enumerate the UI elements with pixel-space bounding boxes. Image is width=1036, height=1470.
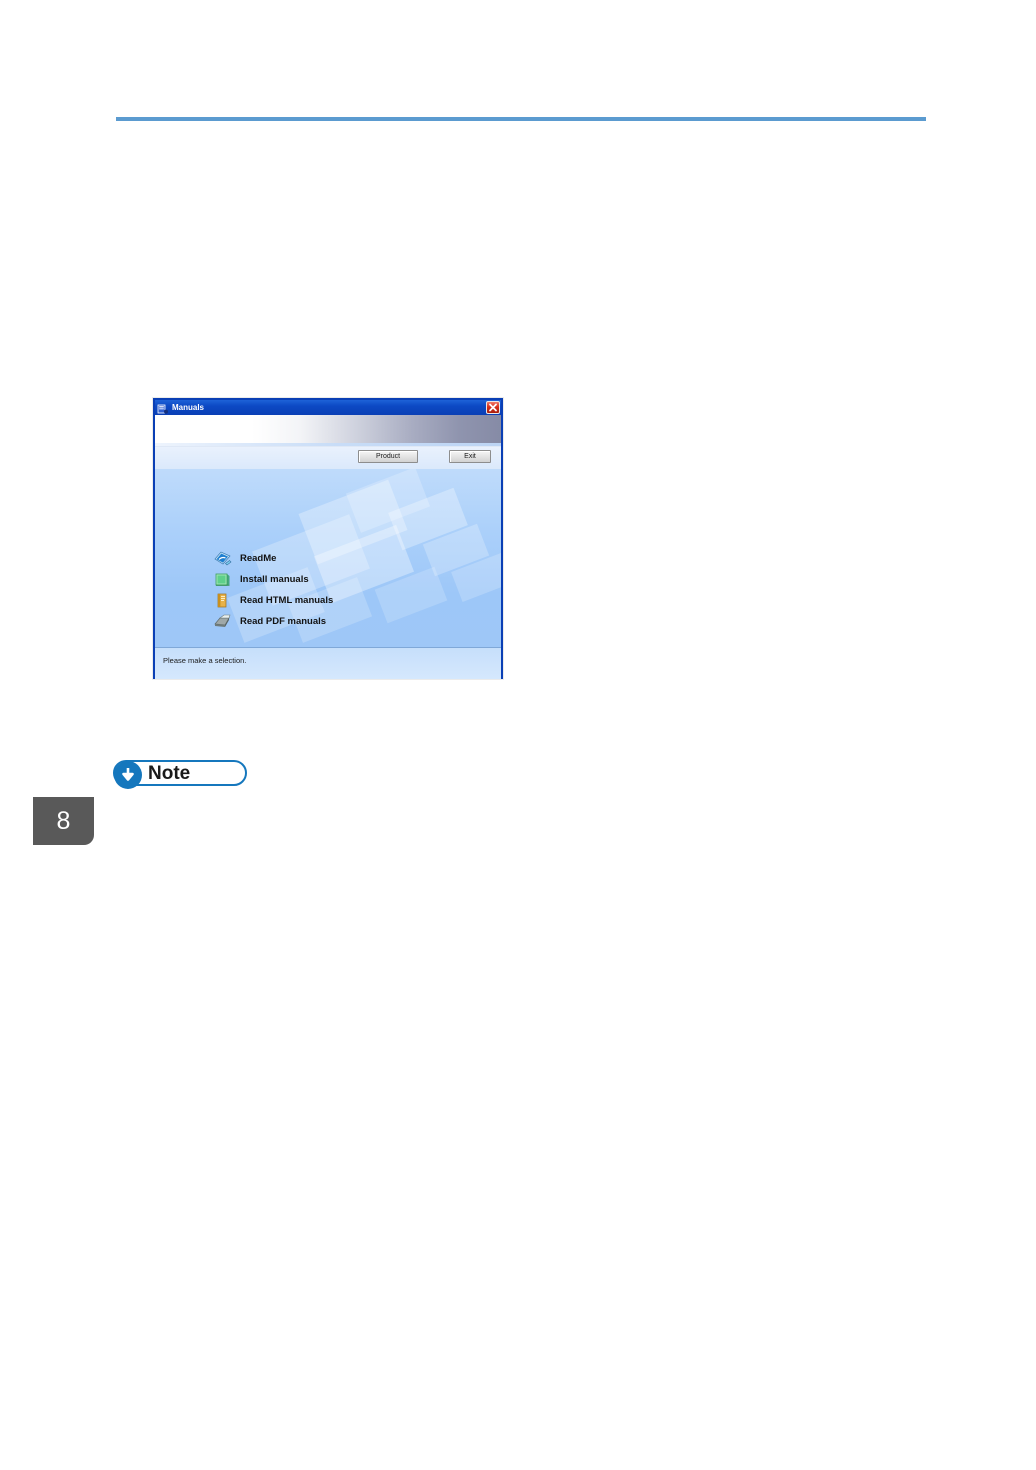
dialog-body: ReadMe Install manuals xyxy=(155,469,501,647)
menu-item-label: Read PDF manuals xyxy=(240,616,326,627)
html-book-icon xyxy=(213,592,232,609)
close-icon[interactable] xyxy=(486,401,500,414)
application-window-icon xyxy=(157,402,169,414)
menu-item-label: ReadMe xyxy=(240,553,276,564)
manuals-dialog-window: Manuals Product Exit xyxy=(153,398,503,679)
dialog-toolbar: Product Exit xyxy=(155,447,501,469)
page-number: 8 xyxy=(33,797,94,845)
status-message: Please make a selection. xyxy=(163,656,246,665)
menu-item-install-manuals[interactable]: Install manuals xyxy=(213,569,333,590)
note-label: Note xyxy=(148,763,190,785)
banner-underline xyxy=(155,443,501,446)
dialog-titlebar: Manuals xyxy=(155,400,501,415)
install-green-box-icon xyxy=(213,571,232,588)
menu-item-label: Install manuals xyxy=(240,574,309,585)
dialog-title: Manuals xyxy=(172,400,204,415)
product-button[interactable]: Product xyxy=(358,450,418,463)
down-arrow-circle-icon xyxy=(114,761,142,789)
menu-item-readme[interactable]: ReadMe xyxy=(213,548,333,569)
dialog-menu-list: ReadMe Install manuals xyxy=(213,548,333,632)
readme-notepad-icon xyxy=(213,550,232,567)
note-badge: Note xyxy=(113,760,247,786)
menu-item-read-pdf-manuals[interactable]: Read PDF manuals xyxy=(213,611,333,632)
menu-item-read-html-manuals[interactable]: Read HTML manuals xyxy=(213,590,333,611)
menu-item-label: Read HTML manuals xyxy=(240,595,333,606)
dialog-statusbar: Please make a selection. xyxy=(155,647,501,679)
dialog-banner xyxy=(155,415,501,447)
exit-button[interactable]: Exit xyxy=(449,450,491,463)
pdf-printer-icon xyxy=(213,613,232,630)
page-header-rule xyxy=(116,117,926,121)
